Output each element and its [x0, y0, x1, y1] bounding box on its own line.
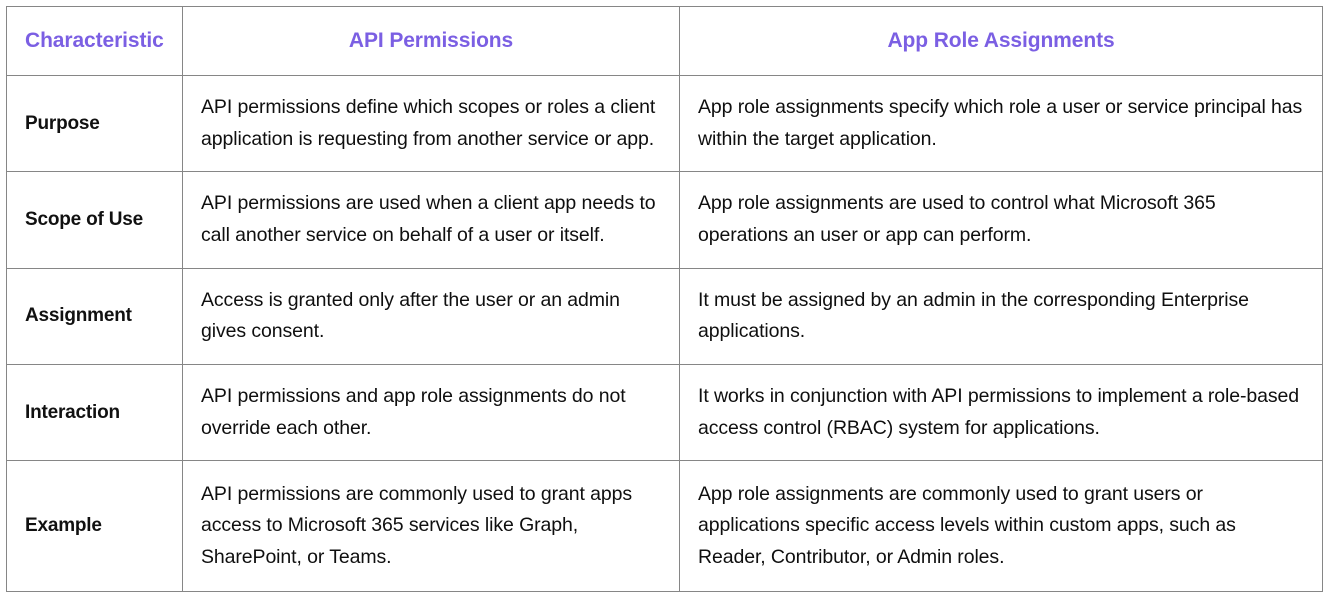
row-label-example: Example	[7, 461, 183, 592]
row-label-interaction: Interaction	[7, 364, 183, 460]
cell-api-permissions-example: API permissions are commonly used to gra…	[183, 461, 680, 592]
column-header-characteristic: Characteristic	[7, 7, 183, 76]
cell-api-permissions-purpose: API permissions define which scopes or r…	[183, 76, 680, 172]
column-header-app-role-assignments: App Role Assignments	[680, 7, 1323, 76]
cell-api-permissions-scope-of-use: API permissions are used when a client a…	[183, 172, 680, 268]
cell-api-permissions-assignment: Access is granted only after the user or…	[183, 268, 680, 364]
cell-app-role-assignments-assignment: It must be assigned by an admin in the c…	[680, 268, 1323, 364]
row-label-purpose: Purpose	[7, 76, 183, 172]
table-header-row: Characteristic API Permissions App Role …	[7, 7, 1323, 76]
table-row: Example API permissions are commonly use…	[7, 461, 1323, 592]
table-body: Purpose API permissions define which sco…	[7, 76, 1323, 592]
cell-app-role-assignments-purpose: App role assignments specify which role …	[680, 76, 1323, 172]
cell-app-role-assignments-interaction: It works in conjunction with API permiss…	[680, 364, 1323, 460]
comparison-table-container: Characteristic API Permissions App Role …	[0, 0, 1335, 598]
table-row: Purpose API permissions define which sco…	[7, 76, 1323, 172]
cell-app-role-assignments-scope-of-use: App role assignments are used to control…	[680, 172, 1323, 268]
cell-api-permissions-interaction: API permissions and app role assignments…	[183, 364, 680, 460]
table-header: Characteristic API Permissions App Role …	[7, 7, 1323, 76]
table-row: Assignment Access is granted only after …	[7, 268, 1323, 364]
table-row: Interaction API permissions and app role…	[7, 364, 1323, 460]
row-label-assignment: Assignment	[7, 268, 183, 364]
table-row: Scope of Use API permissions are used wh…	[7, 172, 1323, 268]
row-label-scope-of-use: Scope of Use	[7, 172, 183, 268]
column-header-api-permissions: API Permissions	[183, 7, 680, 76]
cell-app-role-assignments-example: App role assignments are commonly used t…	[680, 461, 1323, 592]
comparison-table: Characteristic API Permissions App Role …	[6, 6, 1323, 592]
